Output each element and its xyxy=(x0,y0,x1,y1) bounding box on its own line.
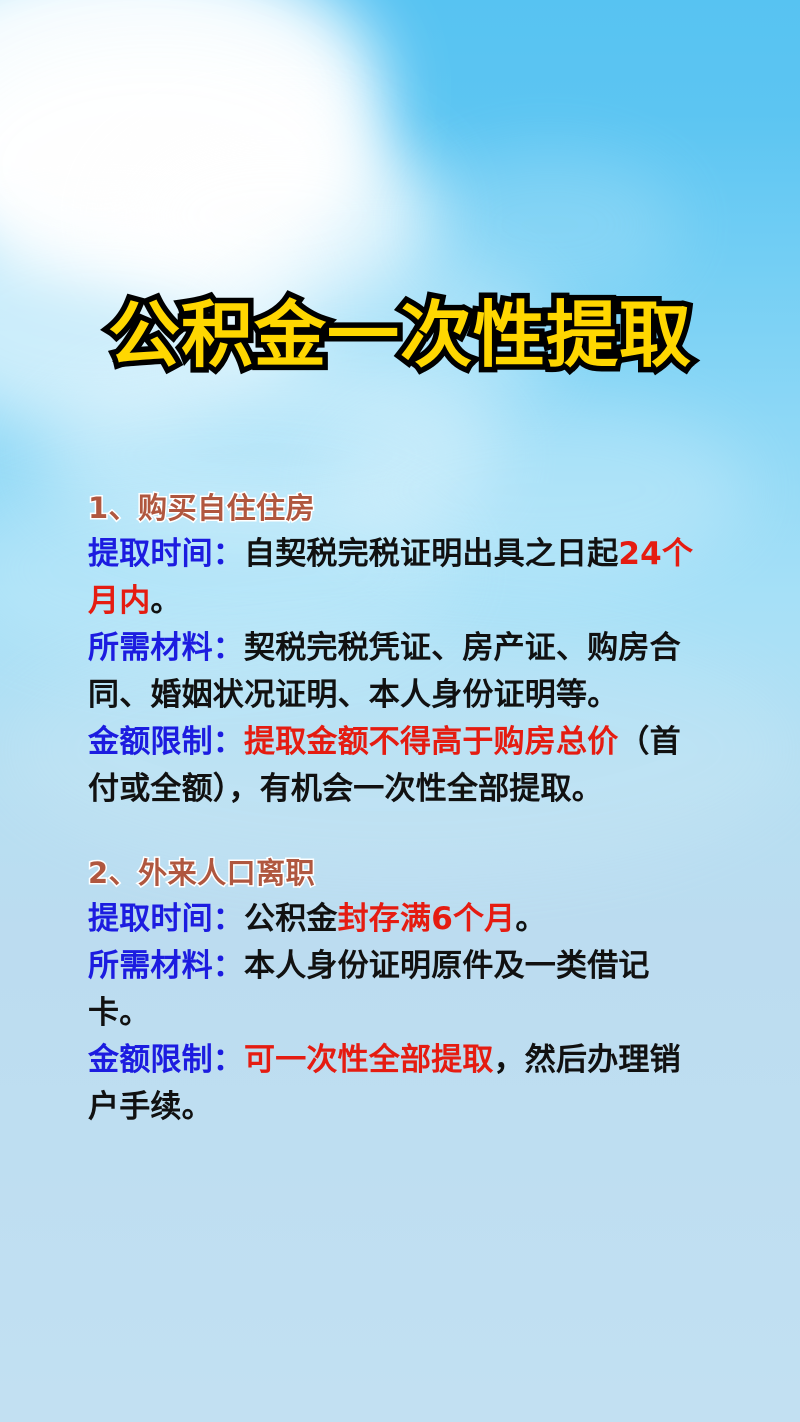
row-label: 所需材料： xyxy=(88,630,244,666)
cloud-decoration xyxy=(110,120,440,310)
row-text: 公积金 xyxy=(244,901,338,937)
poster-title-container: 公积金一次性提取 xyxy=(0,296,800,375)
row-highlight-text: 提取金额不得高于购房总价 xyxy=(244,724,618,760)
poster-canvas: 公积金一次性提取 1、购买自住住房提取时间：自契税完税证明出具之日起24个月内。… xyxy=(0,0,800,1422)
cloud-decoration xyxy=(420,150,680,300)
row-text: 。 xyxy=(515,901,546,937)
row-label: 金额限制： xyxy=(88,724,244,760)
poster-title: 公积金一次性提取 xyxy=(108,296,692,375)
poster-body: 1、购买自住住房提取时间：自契税完税证明出具之日起24个月内。所需材料：契税完税… xyxy=(88,488,700,1131)
row-label: 金额限制： xyxy=(88,1042,244,1078)
content-row: 金额限制：可一次性全部提取，然后办理销户手续。 xyxy=(88,1037,700,1131)
cloud-decoration xyxy=(0,40,370,290)
cloud-decoration xyxy=(0,0,380,240)
row-label: 所需材料： xyxy=(88,948,244,984)
row-highlight-text: 可一次性全部提取 xyxy=(244,1042,494,1078)
row-label: 提取时间： xyxy=(88,901,244,937)
content-row: 所需材料：契税完税凭证、房产证、购房合同、婚姻状况证明、本人身份证明等。 xyxy=(88,625,700,719)
content-row: 提取时间：自契税完税证明出具之日起24个月内。 xyxy=(88,531,700,625)
content-section: 1、购买自住住房提取时间：自契税完税证明出具之日起24个月内。所需材料：契税完税… xyxy=(88,488,700,813)
content-section: 2、外来人口离职提取时间：公积金封存满6个月。所需材料：本人身份证明原件及一类借… xyxy=(88,853,700,1131)
content-row: 所需材料：本人身份证明原件及一类借记卡。 xyxy=(88,943,700,1037)
row-text: 自契税完税证明出具之日起 xyxy=(244,536,618,572)
content-row: 金额限制：提取金额不得高于购房总价（首付或全额），有机会一次性全部提取。 xyxy=(88,719,700,813)
content-row: 提取时间：公积金封存满6个月。 xyxy=(88,896,700,943)
row-highlight-text: 封存满6个月 xyxy=(338,901,516,937)
section-heading: 2、外来人口离职 xyxy=(88,853,700,894)
row-text: 。 xyxy=(150,583,181,619)
row-label: 提取时间： xyxy=(88,536,244,572)
section-heading: 1、购买自住住房 xyxy=(88,488,700,529)
